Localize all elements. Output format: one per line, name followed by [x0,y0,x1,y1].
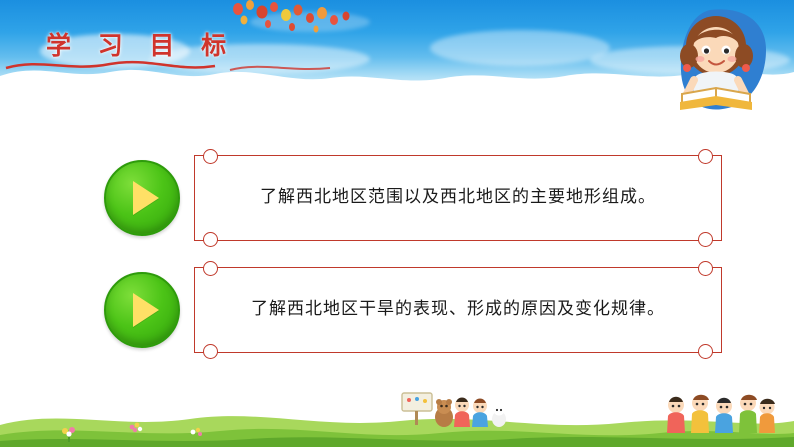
objective-text-2: 了解西北地区干旱的表现、形成的原因及变化规律。 [237,298,679,322]
flower-icon [128,421,144,435]
flower-icon [58,425,80,443]
objective-row-1: 了解西北地区范围以及西北地区的主要地形组成。 [104,152,722,244]
page-title: 学 习 目 标 [46,26,235,62]
page-title-wrapper: 学 习 目 标 [46,26,235,62]
hot-air-balloons-icon [228,0,358,38]
children-group-icon [664,393,776,433]
objective-text-1: 了解西北地区范围以及西北地区的主要地形组成。 [246,186,670,210]
slide-root: 学 习 目 标 [0,0,794,447]
animals-group-icon [396,391,511,429]
girl-reading-book-icon [658,6,770,114]
play-triangle-icon [104,272,180,348]
bottom-decoration [0,379,794,447]
objectives-list: 了解西北地区范围以及西北地区的主要地形组成。 了解西北地区干旱的表现、形成的原因… [0,92,794,382]
play-triangle-icon [104,160,180,236]
objective-row-2: 了解西北地区干旱的表现、形成的原因及变化规律。 [104,264,722,356]
objective-scroll-box-2: 了解西北地区干旱的表现、形成的原因及变化规律。 [194,267,722,353]
flower-icon [188,425,204,439]
objective-scroll-box-1: 了解西北地区范围以及西北地区的主要地形组成。 [194,155,722,241]
